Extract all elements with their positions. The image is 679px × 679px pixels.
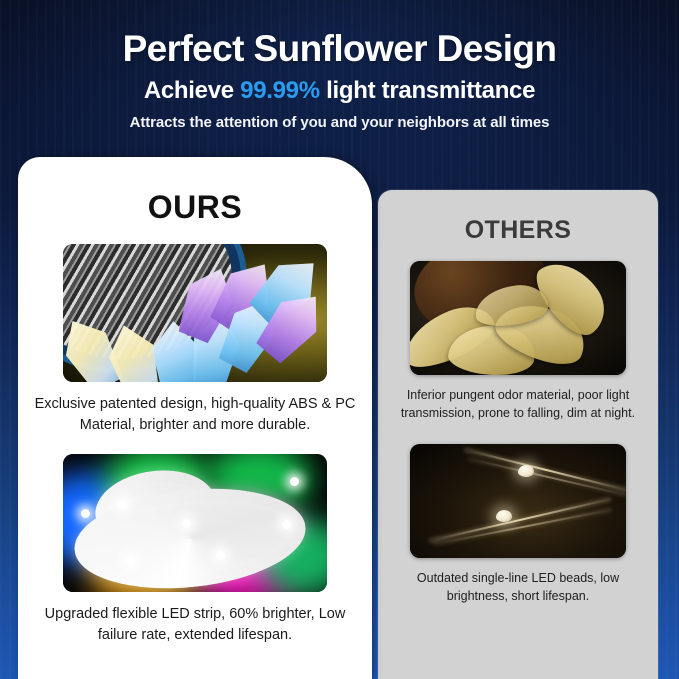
subtitle: Achieve 99.99% light transmittance bbox=[0, 78, 679, 104]
led-wire bbox=[429, 499, 610, 543]
product-comparison-infographic: Perfect Sunflower Design Achieve 99.99% … bbox=[0, 0, 679, 679]
others-caption-2: Outdated single-line LED beads, low brig… bbox=[392, 569, 644, 605]
ours-heading: OURS bbox=[18, 189, 372, 226]
page-title: Perfect Sunflower Design bbox=[0, 29, 679, 69]
led-bead bbox=[518, 465, 534, 477]
others-caption-1: Inferior pungent odor material, poor lig… bbox=[392, 386, 644, 422]
ours-panel: OURS Exclusive patented design, high-qua… bbox=[18, 157, 372, 679]
subtitle-prefix: Achieve bbox=[144, 77, 240, 104]
ours-caption-2: Upgraded flexible LED strip, 60% brighte… bbox=[34, 604, 356, 646]
others-image-2 bbox=[410, 444, 626, 558]
ours-image-1 bbox=[63, 244, 327, 382]
led-wire bbox=[468, 458, 626, 497]
subtitle-suffix: light transmittance bbox=[320, 77, 535, 104]
tagline: Attracts the attention of you and your n… bbox=[0, 114, 679, 131]
led-node bbox=[182, 519, 191, 528]
rgb-led-strip-photo bbox=[63, 454, 327, 592]
led-wire bbox=[464, 449, 626, 492]
header-block: Perfect Sunflower Design Achieve 99.99% … bbox=[0, 0, 679, 131]
others-image-1 bbox=[410, 261, 626, 375]
led-node bbox=[216, 551, 225, 560]
ours-image-2 bbox=[63, 454, 327, 592]
others-heading: OTHERS bbox=[378, 216, 658, 245]
dim-yellow-sunflower-photo bbox=[410, 261, 626, 375]
transmittance-value: 99.99% bbox=[240, 77, 320, 104]
led-node bbox=[118, 500, 127, 509]
others-panel: OTHERS Inferior pungent odor material, p… bbox=[378, 190, 658, 679]
crystal-sunflower-petals-photo bbox=[63, 244, 327, 382]
led-wire bbox=[433, 509, 611, 546]
ours-caption-1: Exclusive patented design, high-quality … bbox=[34, 394, 356, 436]
single-line-led-beads-photo bbox=[410, 444, 626, 558]
